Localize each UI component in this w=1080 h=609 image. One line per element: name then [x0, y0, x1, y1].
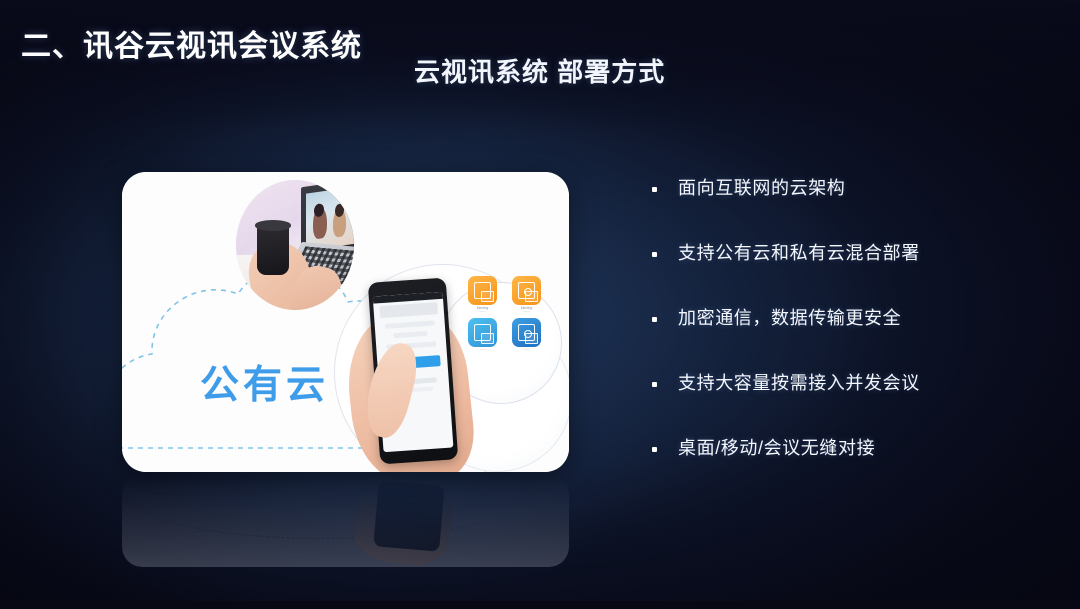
- video-presenter-icon: [512, 276, 541, 305]
- bottom-edge-strip: [0, 601, 1080, 609]
- icon-caption-screen-share: Meeting·······: [466, 306, 499, 314]
- bullet-label: 面向互联网的云架构: [678, 178, 845, 199]
- screen-share-glyph: [474, 282, 491, 299]
- bullet-label: 加密通信，数据传输更安全: [678, 308, 901, 329]
- add-meeting-glyph: [518, 324, 535, 341]
- screen-share-icon: [468, 276, 497, 305]
- cloud-label: 公有云: [200, 354, 329, 410]
- list-item: 桌面/移动/会议无缝对接: [652, 438, 1012, 503]
- feature-icon-grid: Meeting······· Meeting·······: [466, 276, 550, 356]
- bullet-dot-icon: [652, 317, 657, 322]
- icon-caption-video-presenter: Meeting·······: [510, 306, 543, 314]
- bullet-dot-icon: [652, 252, 657, 257]
- icon-caption-add-meeting: ·····: [510, 348, 543, 352]
- calendar-meeting-glyph: [474, 324, 491, 341]
- slide-title: 二、讯谷云视讯会议系统: [21, 21, 362, 65]
- video-call-frame: [306, 186, 354, 250]
- list-item: 支持大容量按需接入并发会议: [652, 373, 1012, 438]
- bullet-dot-icon: [652, 187, 657, 192]
- list-item: 加密通信，数据传输更安全: [652, 308, 1012, 373]
- card-reflection: [122, 475, 569, 567]
- icon-cell-screen-share[interactable]: Meeting·······: [466, 276, 499, 314]
- list-item: 支持公有云和私有云混合部署: [652, 243, 1012, 308]
- video-presenter-glyph: [518, 282, 535, 299]
- slide-root: 二、讯谷云视讯会议系统 云视讯系统 部署方式: [0, 0, 1080, 609]
- coffee-cup-lid: [255, 220, 292, 230]
- add-meeting-icon: [512, 318, 541, 347]
- app-label-one: [393, 331, 427, 338]
- icon-cell-video-presenter[interactable]: Meeting·······: [510, 276, 543, 314]
- list-item: 面向互联网的云架构: [652, 178, 1012, 243]
- icon-cell-add-meeting[interactable]: ·····: [510, 318, 543, 352]
- bullet-label: 桌面/移动/会议无缝对接: [678, 438, 875, 459]
- illustration-canvas: 公有云: [122, 172, 569, 472]
- icon-row-bottom: ····· ·····: [466, 318, 550, 352]
- bullet-dot-icon: [652, 447, 657, 452]
- slide-subtitle: 云视讯系统 部署方式: [414, 52, 665, 89]
- laptop-video-call-photo: [236, 180, 354, 310]
- bullet-label: 支持公有云和私有云混合部署: [678, 243, 920, 264]
- video-participant-two-head: [335, 203, 344, 217]
- feature-bullet-list: 面向互联网的云架构 支持公有云和私有云混合部署 加密通信，数据传输更安全 支持大…: [652, 178, 1012, 503]
- bullet-dot-icon: [652, 382, 657, 387]
- coffee-cup: [257, 223, 289, 275]
- icon-caption-calendar-meeting: ·····: [466, 348, 499, 352]
- icon-cell-calendar-meeting[interactable]: ·····: [466, 318, 499, 352]
- app-field-one: [385, 320, 435, 328]
- bullet-label: 支持大容量按需接入并发会议: [678, 373, 920, 394]
- reflection-phone: [373, 480, 445, 552]
- icon-row-top: Meeting······· Meeting·······: [466, 276, 550, 314]
- illustration-card: 公有云: [122, 172, 569, 472]
- app-title-bar: [379, 302, 438, 318]
- calendar-meeting-icon: [468, 318, 497, 347]
